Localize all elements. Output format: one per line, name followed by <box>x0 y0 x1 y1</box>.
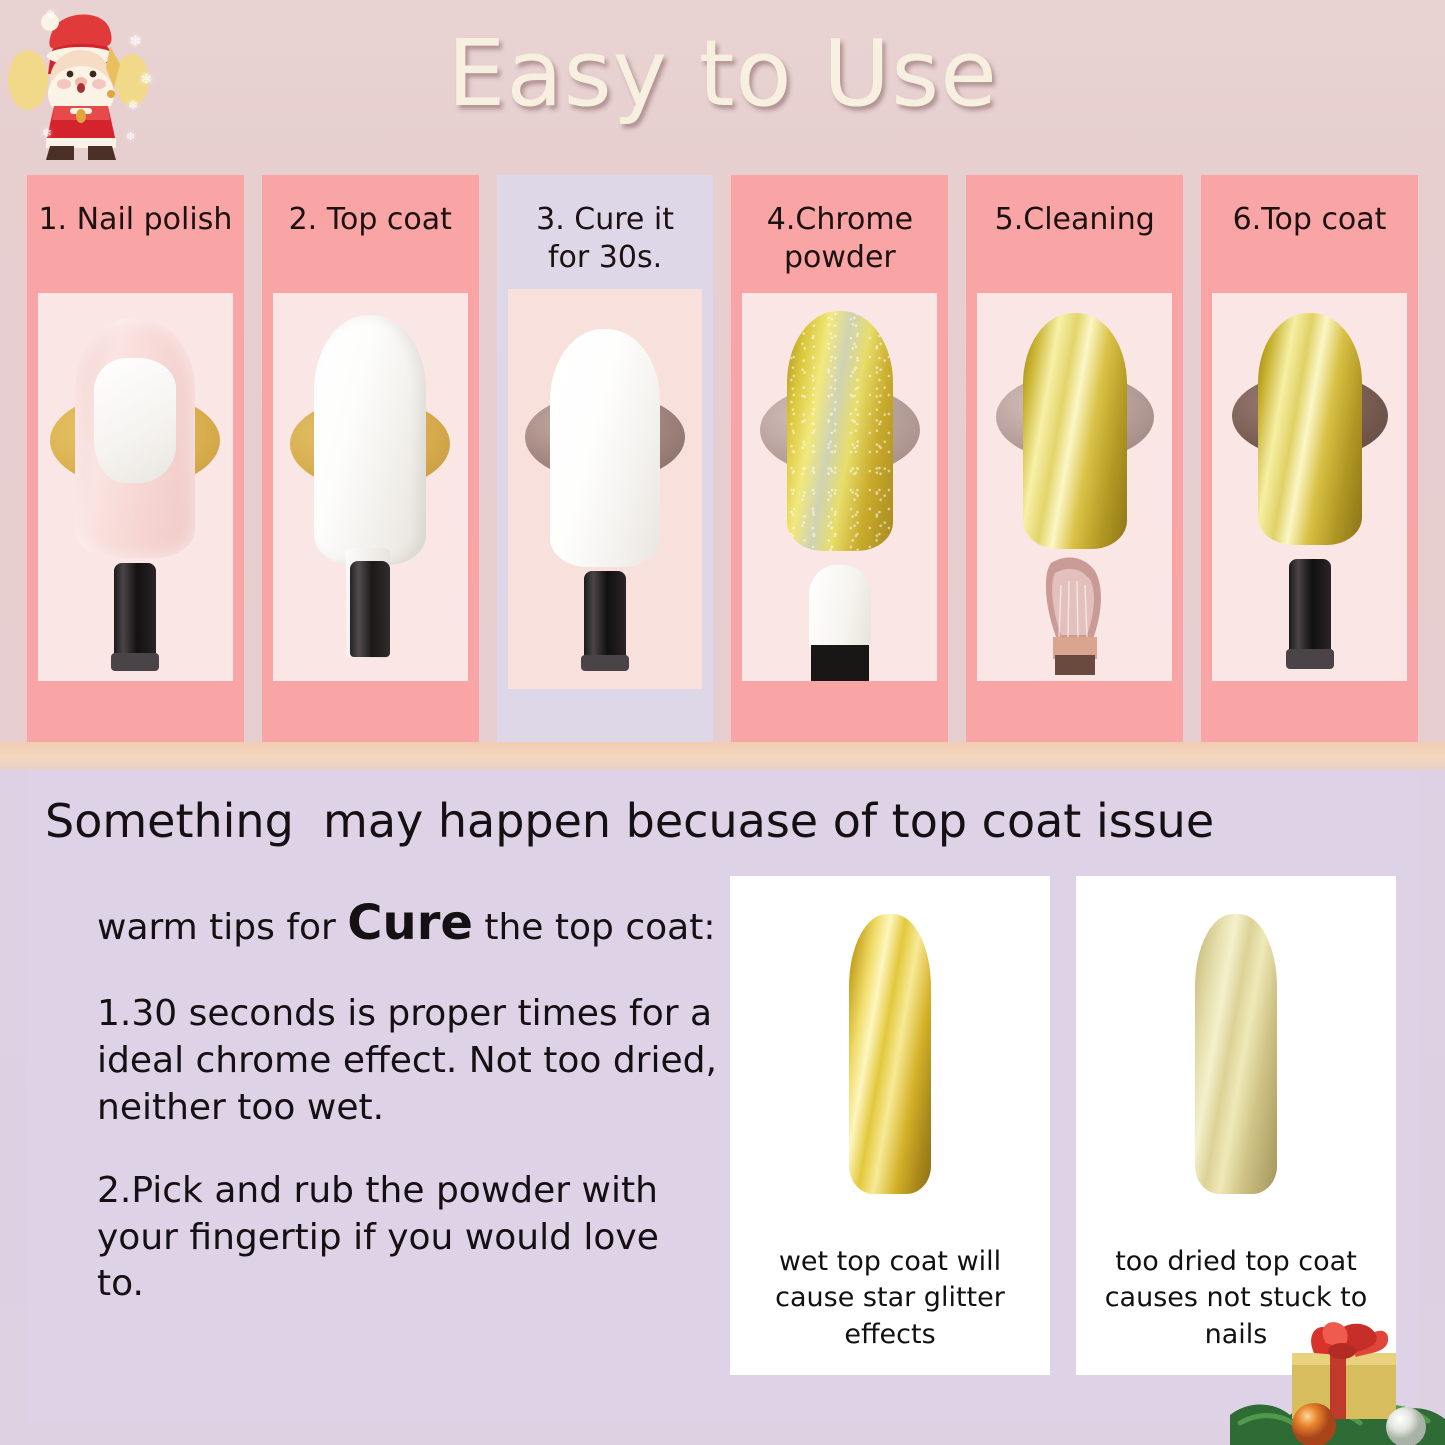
tip-item-1: 1.30 seconds is proper times for a ideal… <box>97 991 717 1131</box>
pale-gold-nail-shape <box>1195 914 1277 1194</box>
nail-shape <box>314 315 426 565</box>
black-brush-handle <box>350 561 390 657</box>
black-brush-handle <box>584 571 626 663</box>
brush-collar <box>1286 649 1334 669</box>
snowflake-icon: ❄ <box>42 126 52 140</box>
blush-brush-icon <box>1015 555 1135 675</box>
page-title: Easy to Use <box>0 20 1445 127</box>
glitter-overlay <box>787 311 893 551</box>
comparison-card-wet[interactable]: wet top coat will cause star glitter eff… <box>730 876 1050 1375</box>
step-label-3: 3. Cure it for 30s. <box>530 175 680 283</box>
step-card-3[interactable]: 3. Cure it for 30s. <box>497 175 714 742</box>
comparison-photo-dried <box>1076 876 1396 1236</box>
step-photo-3 <box>508 289 703 689</box>
step-label-2: 2. Top coat <box>283 175 458 283</box>
comparison-photo-wet <box>730 876 1050 1236</box>
applicator-stick <box>811 645 869 681</box>
tips-heading-post: the top coat: <box>473 907 716 948</box>
christmas-gift-icon <box>1230 1265 1445 1445</box>
white-polish-blob <box>94 358 176 483</box>
white-sponge-applicator <box>809 565 871 653</box>
step-photo-5 <box>977 293 1172 681</box>
step-photo-6 <box>1212 293 1407 681</box>
infographic-page: ❄ ❄ ❄ ❄ ❄ ❄ Easy to Use 1. Nail polish 2… <box>0 0 1445 1445</box>
peach-divider-band <box>0 742 1445 770</box>
step-card-5[interactable]: 5.Cleaning <box>966 175 1183 742</box>
step-card-1[interactable]: 1. Nail polish <box>27 175 244 742</box>
mirror-gold-nail-shape <box>1023 313 1127 549</box>
tips-heading-strong: Cure <box>347 895 473 951</box>
tips-heading-pre: warm tips for <box>97 907 347 948</box>
brush-collar <box>581 655 629 671</box>
nail-shape <box>550 329 660 567</box>
black-brush-handle <box>1289 559 1331 655</box>
step-photo-4 <box>742 293 937 681</box>
comparison-caption-wet: wet top coat will cause star glitter eff… <box>730 1236 1050 1375</box>
snowflake-icon: ❄ <box>126 130 135 143</box>
step-label-1: 1. Nail polish <box>32 175 238 283</box>
step-label-4: 4.Chrome powder <box>761 175 919 283</box>
tip-item-2: 2.Pick and rub the powder with your fing… <box>97 1168 717 1308</box>
step-card-6[interactable]: 6.Top coat <box>1201 175 1418 742</box>
brush-collar <box>111 653 159 671</box>
step-photo-1 <box>38 293 233 681</box>
black-brush-handle <box>114 563 156 659</box>
mirror-gold-nail-shape <box>1258 313 1362 545</box>
step-label-5: 5.Cleaning <box>989 175 1161 283</box>
tips-heading: warm tips for Cure the top coat: <box>97 892 717 955</box>
step-card-2[interactable]: 2. Top coat <box>262 175 479 742</box>
step-label-6: 6.Top coat <box>1227 175 1393 283</box>
panel-title: Something may happen becuase of top coat… <box>45 794 1405 848</box>
steps-row: 1. Nail polish 2. Top coat 3. Cure it fo… <box>27 175 1418 742</box>
step-photo-2 <box>273 293 468 681</box>
step-card-4[interactable]: 4.Chrome powder <box>731 175 948 742</box>
troubleshooting-panel: Something may happen becuase of top coat… <box>27 770 1418 1422</box>
rich-gold-nail-shape <box>849 914 931 1194</box>
tips-block: warm tips for Cure the top coat: 1.30 se… <box>97 892 717 1308</box>
